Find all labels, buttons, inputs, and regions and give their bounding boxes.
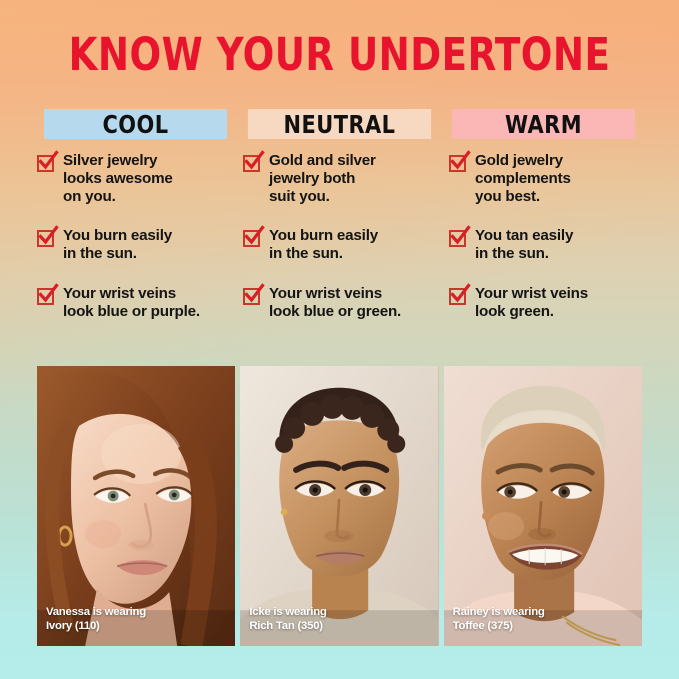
column-header-cool: COOL — [44, 109, 227, 139]
checklist-column-neutral: Gold and silver jewelry both suit you. Y… — [243, 152, 442, 320]
model-photo-warm: Rainey is wearing Toffee (375) — [444, 366, 642, 646]
checklist-item-label: You tan easily in the sun. — [475, 227, 573, 263]
checklist-item[interactable]: You burn easily in the sun. — [243, 227, 442, 263]
checkbox-checked-icon[interactable] — [37, 228, 56, 247]
photo-caption: Vanessa is wearing Ivory (110) — [46, 606, 146, 634]
photo-caption: Rainey is wearing Toffee (375) — [453, 606, 545, 634]
checklist-item-label: Silver jewelry looks awesome on you. — [63, 152, 173, 205]
checklist-item[interactable]: Gold jewelry complements you best. — [449, 152, 648, 205]
checkbox-checked-icon[interactable] — [243, 228, 262, 247]
checklist-item-label: You burn easily in the sun. — [63, 227, 172, 263]
checkbox-checked-icon[interactable] — [243, 286, 262, 305]
column-header-warm: WARM — [452, 109, 635, 139]
checklist-column-warm: Gold jewelry complements you best. You t… — [449, 152, 648, 320]
column-header-neutral: NEUTRAL — [248, 109, 431, 139]
portrait-rainey-image — [444, 366, 642, 646]
checklist-columns: Silver jewelry looks awesome on you. You… — [37, 152, 648, 320]
checklist-item[interactable]: Gold and silver jewelry both suit you. — [243, 152, 442, 205]
checklist-item[interactable]: You tan easily in the sun. — [449, 227, 648, 263]
checklist-item-label: You burn easily in the sun. — [269, 227, 378, 263]
checkbox-checked-icon[interactable] — [449, 153, 468, 172]
undertone-infographic: KNOW YOUR UNDERTONE COOL NEUTRAL WARM Si… — [0, 0, 679, 679]
checkbox-checked-icon[interactable] — [37, 286, 56, 305]
checklist-item-label: Your wrist veins look blue or purple. — [63, 285, 200, 321]
checklist-item[interactable]: Silver jewelry looks awesome on you. — [37, 152, 236, 205]
checklist-item[interactable]: Your wrist veins look green. — [449, 285, 648, 321]
checkbox-checked-icon[interactable] — [449, 228, 468, 247]
checklist-item-label: Gold and silver jewelry both suit you. — [269, 152, 376, 205]
photo-caption: Icke is wearing Rich Tan (350) — [249, 606, 326, 634]
undertone-header-row: COOL NEUTRAL WARM — [37, 109, 642, 139]
checklist-column-cool: Silver jewelry looks awesome on you. You… — [37, 152, 236, 320]
checklist-item-label: Your wrist veins look blue or green. — [269, 285, 401, 321]
model-photo-cool: Vanessa is wearing Ivory (110) — [37, 366, 235, 646]
checkbox-checked-icon[interactable] — [37, 153, 56, 172]
page-title: KNOW YOUR UNDERTONE — [27, 32, 652, 77]
checklist-item[interactable]: Your wrist veins look blue or green. — [243, 285, 442, 321]
model-photo-row: Vanessa is wearing Ivory (110) — [37, 366, 642, 646]
portrait-icke-image — [240, 366, 438, 646]
checklist-item-label: Your wrist veins look green. — [475, 285, 588, 321]
checklist-item[interactable]: You burn easily in the sun. — [37, 227, 236, 263]
model-photo-neutral: Icke is wearing Rich Tan (350) — [240, 366, 438, 646]
checklist-item-label: Gold jewelry complements you best. — [475, 152, 571, 205]
checklist-item[interactable]: Your wrist veins look blue or purple. — [37, 285, 236, 321]
portrait-vanessa-image — [37, 366, 235, 646]
checkbox-checked-icon[interactable] — [243, 153, 262, 172]
checkbox-checked-icon[interactable] — [449, 286, 468, 305]
